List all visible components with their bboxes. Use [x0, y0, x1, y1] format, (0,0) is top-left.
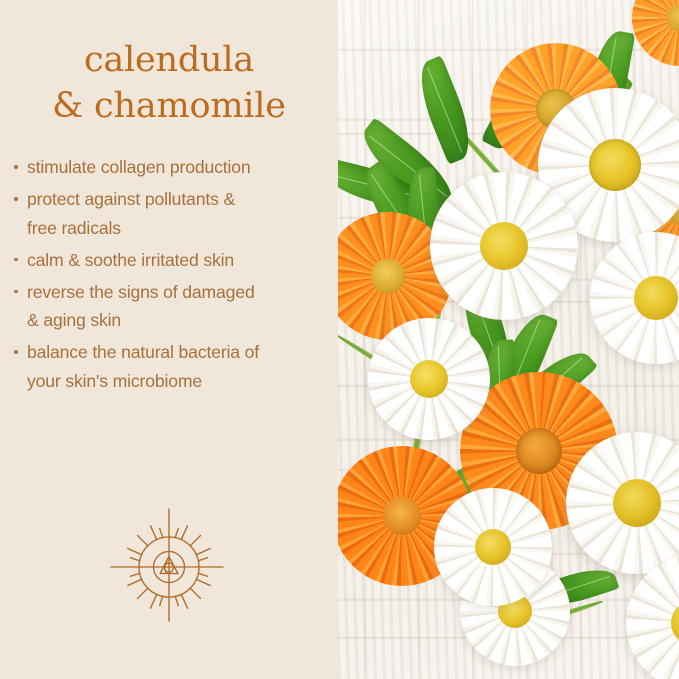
benefit-text: calm & soothe irritated skin [27, 250, 234, 270]
page-title: calendula & chamomile [0, 0, 338, 129]
flower-center [671, 601, 679, 645]
chamomile-flower [368, 318, 490, 440]
list-item: calm & soothe irritated skin [13, 246, 334, 275]
brand-logo [0, 503, 338, 631]
bullet-dot-icon [14, 290, 18, 294]
flower-center [410, 360, 448, 398]
list-item: reverse the signs of damaged & aging ski… [13, 278, 334, 335]
flower-center [634, 276, 678, 320]
flower-center [383, 497, 421, 535]
bullet-dot-icon [14, 350, 18, 354]
benefit-text: balance the natural bacteria of [27, 342, 259, 362]
benefit-text: reverse the signs of damaged [27, 282, 255, 302]
list-item: protect against pollutants & free radica… [13, 185, 334, 242]
benefit-text-continuation: free radicals [27, 214, 334, 243]
chamomile-flower [434, 488, 552, 606]
flower-photograph [338, 0, 679, 679]
flower-center [475, 529, 511, 565]
flower-center [613, 479, 661, 527]
title-line-1: calendula [0, 38, 338, 84]
poster-root: calendula & chamomile stimulate collagen… [0, 0, 679, 679]
benefit-text: stimulate collagen production [27, 157, 251, 177]
title-line-2: & chamomile [0, 84, 338, 130]
benefit-text-continuation: your skin's microbiome [27, 367, 334, 396]
flower-center [371, 259, 405, 293]
list-item: stimulate collagen production [13, 153, 334, 182]
bullet-dot-icon [14, 197, 18, 201]
benefit-text-continuation: & aging skin [27, 306, 334, 335]
flower-center [480, 222, 528, 270]
list-item: balance the natural bacteria of your ski… [13, 338, 334, 395]
bullet-dot-icon [14, 165, 18, 169]
benefits-list: stimulate collagen production protect ag… [0, 153, 338, 395]
flower-center [667, 5, 679, 31]
flower-center [516, 428, 562, 474]
flower-center [589, 139, 641, 191]
bullet-dot-icon [14, 258, 18, 262]
chamomile-flower [430, 172, 578, 320]
info-panel: calendula & chamomile stimulate collagen… [0, 0, 338, 679]
sun-mandala-icon [105, 503, 233, 631]
benefit-text: protect against pollutants & [27, 189, 235, 209]
